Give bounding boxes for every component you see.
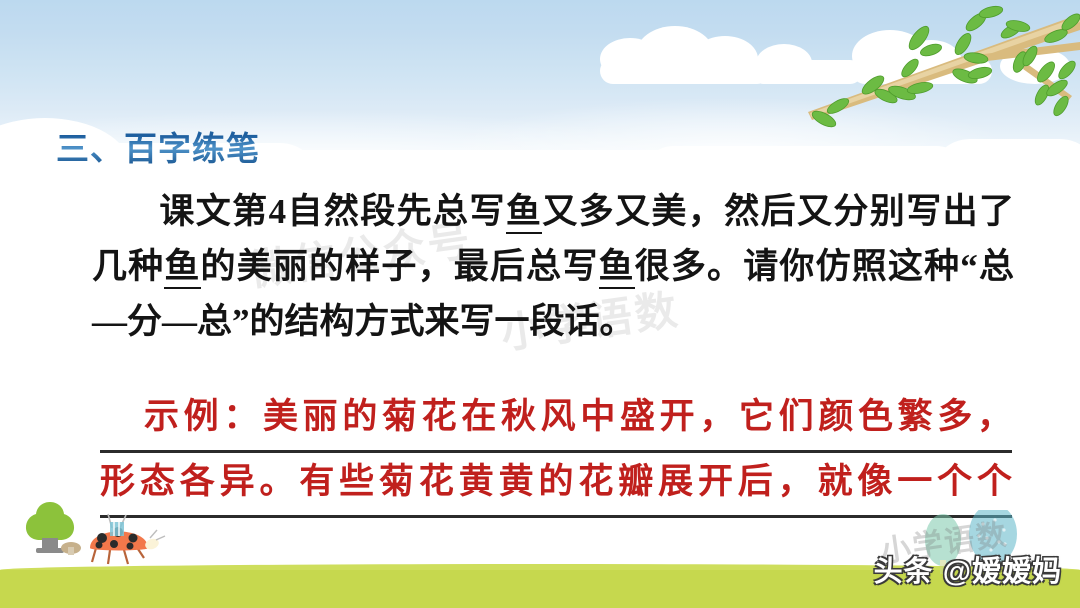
example-line-1: 示例：美丽的菊花在秋风中盛开，它们颜色繁多，: [100, 388, 1012, 453]
mushroom-icon: [61, 542, 81, 555]
paragraph-segment-underlined: 鱼: [599, 247, 635, 289]
scene-icon: [0, 488, 320, 578]
tree-branch-decoration: [780, 0, 1080, 135]
body-paragraph: 课文第4自然段先总写鱼又多又美，然后又分别写出了几种鱼的美丽的样子，最后总写鱼很…: [92, 184, 1014, 349]
watermark-toutiao: 头条 @嫒嫒妈: [874, 548, 1062, 590]
bottom-left-decorations: [0, 488, 320, 578]
paragraph-segment-underlined: 鱼: [164, 247, 200, 289]
section-heading: 三、百字练笔: [56, 122, 260, 170]
slide-canvas: 三、百字练笔 微信公众号 小学语数 课文第4自然段先总写鱼又多又美，然后又分别写…: [0, 0, 1080, 608]
paragraph-segment: 课文第4自然段先总写: [158, 192, 506, 231]
cloud-icon: [600, 58, 770, 84]
paragraph-segment: 的美丽的样子，最后总写: [201, 247, 599, 286]
branch-icon: [780, 0, 1080, 135]
paragraph-segment-underlined: 鱼: [506, 192, 542, 234]
ladybug-icon: [90, 514, 165, 564]
